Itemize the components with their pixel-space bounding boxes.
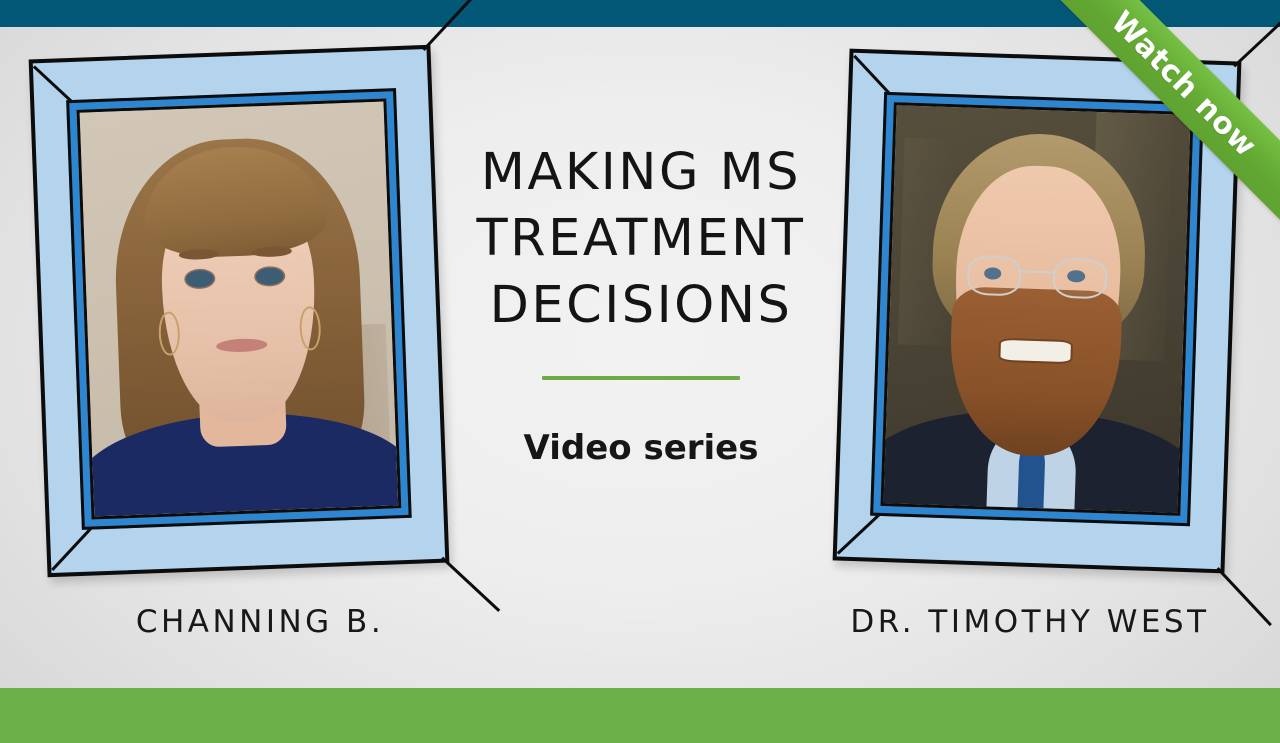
title-line-3: Decisions — [441, 273, 841, 339]
eyeglasses-right-lens-icon — [1052, 258, 1107, 300]
eyeglasses-left-lens-icon — [967, 255, 1022, 297]
smile-teeth-shape — [1000, 340, 1071, 362]
bottom-accent-bar — [0, 688, 1280, 743]
frame-inner-band — [66, 88, 412, 530]
frame-mat — [77, 98, 402, 519]
eye-right — [256, 267, 284, 285]
ribbon-band[interactable]: Watch now — [1050, 0, 1280, 230]
watch-now-ribbon[interactable]: Watch now — [1050, 0, 1280, 230]
portrait-frame-channing[interactable] — [29, 45, 450, 577]
eye-left — [186, 270, 214, 288]
caption-channing: Channing B. — [0, 604, 520, 640]
video-series-promo-card: Making MS Treatment Decisions Video seri… — [0, 0, 1280, 743]
portrait-photo-channing — [80, 102, 399, 517]
center-text-block: Making MS Treatment Decisions Video seri… — [441, 140, 841, 468]
title-divider — [542, 376, 740, 380]
title-line-1: Making MS — [441, 140, 841, 206]
necktie-shape — [1017, 448, 1046, 513]
page-title: Making MS Treatment Decisions — [441, 140, 841, 339]
subtitle: Video series — [441, 428, 841, 468]
caption-timothy-west: Dr. Timothy West — [780, 604, 1280, 640]
title-line-2: Treatment — [441, 206, 841, 272]
ribbon-label: Watch now — [1104, 4, 1263, 163]
